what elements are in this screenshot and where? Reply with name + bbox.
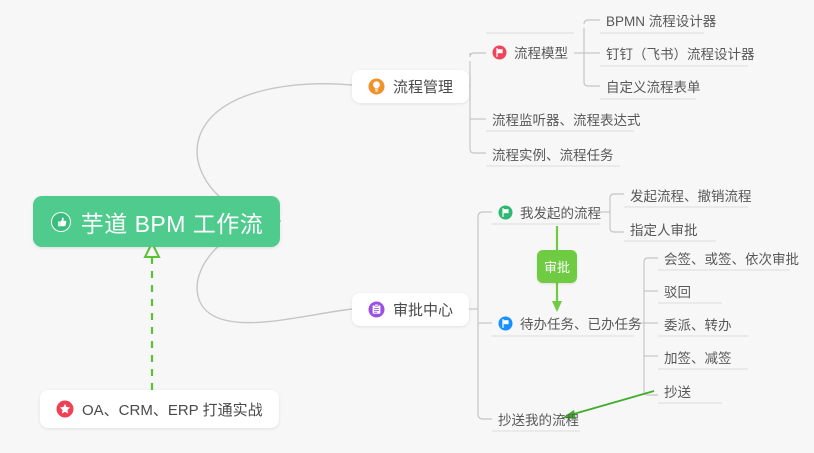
tag-arrow-head: [552, 301, 562, 312]
leaf-node-reject[interactable]: 驳回: [658, 281, 697, 304]
edge-mine-child-1: [610, 194, 624, 198]
star-icon: [56, 400, 74, 418]
mindmap-canvas: 芋道 BPM 工作流 流程管理 审批中心: [0, 0, 814, 453]
branch-node-process-management[interactable]: 流程管理: [352, 70, 469, 103]
leaf-label-bpmn-designer: BPMN 流程设计器: [606, 10, 716, 30]
leaf-label-dingtalk-designer: 钉钉（飞书）流程设计器: [606, 43, 755, 63]
edge-pmodel-child-3: [584, 82, 600, 86]
leaf-label-reject: 驳回: [664, 281, 691, 301]
edge-pm-child-1: [470, 53, 486, 57]
leaf-node-delegate-transfer[interactable]: 委派、转办: [658, 314, 738, 337]
leaf-label-add-remove-sign: 加签、减签: [664, 347, 732, 367]
approval-tag[interactable]: 审批: [537, 250, 577, 283]
leaf-node-add-remove-sign[interactable]: 加签、减签: [658, 347, 738, 370]
leaf-label-process-listener: 流程监听器、流程表达式: [492, 109, 641, 129]
leaf-label-custom-process-form: 自定义流程表单: [606, 76, 701, 96]
edge-mine-child-2: [610, 228, 624, 232]
edge-ac-child-3: [478, 414, 492, 419]
leaf-node-assigned-approval[interactable]: 指定人审批: [624, 219, 704, 242]
leaf-node-process-listener[interactable]: 流程监听器、流程表达式: [486, 109, 647, 132]
leaf-node-cc[interactable]: 抄送: [658, 381, 697, 404]
thumbs-up-icon: [50, 211, 72, 233]
leaf-node-start-cancel-process[interactable]: 发起流程、撤销流程: [624, 185, 758, 208]
leaf-label-my-initiated-process: 我发起的流程: [520, 202, 601, 222]
leaf-label-assigned-approval: 指定人审批: [630, 219, 698, 239]
leaf-label-delegate-transfer: 委派、转办: [664, 314, 732, 334]
floating-label-oa-crm-erp: OA、CRM、ERP 打通实战: [82, 399, 263, 420]
leaf-label-process-instance: 流程实例、流程任务: [492, 144, 614, 164]
edge-pmodel-child-1: [584, 20, 600, 24]
floating-node-oa-crm-erp[interactable]: OA、CRM、ERP 打通实战: [40, 390, 279, 428]
leaf-node-countersign[interactable]: 会签、或签、依次审批: [658, 248, 805, 271]
branch-label-approval-center: 审批中心: [393, 299, 453, 320]
branch-label-process-management: 流程管理: [393, 76, 453, 97]
edge-todo-child-1: [644, 258, 658, 262]
leaf-node-custom-process-form[interactable]: 自定义流程表单: [600, 76, 707, 99]
leaf-label-todo-done-tasks: 待办任务、已办任务: [520, 313, 642, 333]
leaf-label-process-model: 流程模型: [514, 42, 568, 62]
root-node[interactable]: 芋道 BPM 工作流: [33, 196, 280, 247]
edge-ac-child-1: [478, 212, 492, 217]
leaf-label-countersign: 会签、或签、依次审批: [664, 248, 799, 268]
leaf-node-process-model[interactable]: 流程模型: [486, 42, 574, 65]
leaf-node-bpmn-designer[interactable]: BPMN 流程设计器: [600, 10, 722, 33]
leaf-node-dingtalk-designer[interactable]: 钉钉（飞书）流程设计器: [600, 43, 761, 66]
leaf-label-start-cancel-process: 发起流程、撤销流程: [630, 185, 752, 205]
lightbulb-icon: [368, 78, 385, 95]
clipboard-icon: [368, 301, 385, 318]
leaf-label-cc-to-me-process: 抄送我的流程: [498, 409, 579, 429]
leaf-node-cc-to-me-process[interactable]: 抄送我的流程: [492, 409, 585, 432]
leaf-node-my-initiated-process[interactable]: 我发起的流程: [492, 202, 607, 225]
edge-pm-child-3: [470, 149, 486, 153]
flag-icon: [498, 316, 513, 331]
leaf-node-process-instance[interactable]: 流程实例、流程任务: [486, 144, 620, 167]
edge-todo-child-5: [644, 391, 658, 395]
root-label: 芋道 BPM 工作流: [81, 205, 264, 239]
leaf-label-cc: 抄送: [664, 381, 691, 401]
flag-icon: [492, 45, 507, 60]
approval-tag-label: 审批: [544, 257, 570, 276]
flag-icon: [498, 205, 513, 220]
leaf-node-todo-done-tasks[interactable]: 待办任务、已办任务: [492, 313, 648, 336]
branch-node-approval-center[interactable]: 审批中心: [352, 293, 469, 326]
